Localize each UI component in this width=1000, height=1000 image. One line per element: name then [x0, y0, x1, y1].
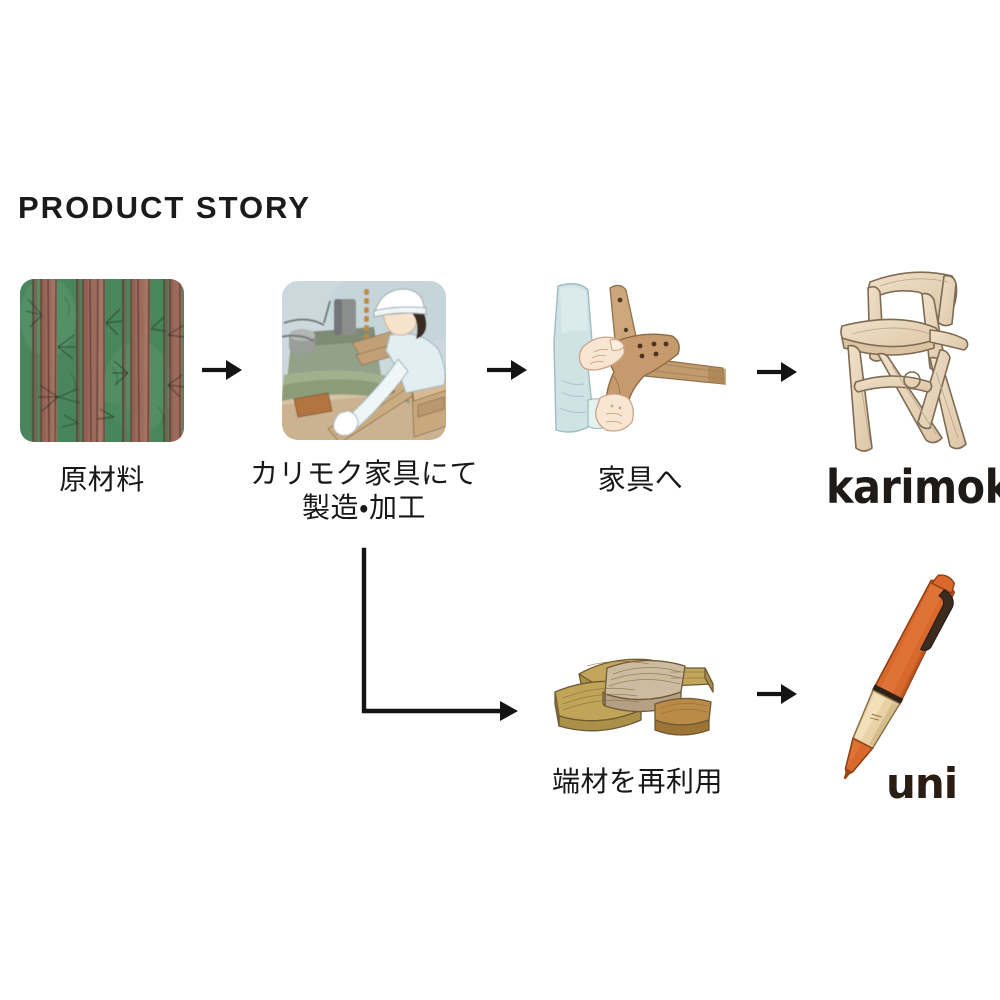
label-line-1: カリモク家具にて: [250, 458, 478, 489]
arrow-right-icon: [485, 352, 531, 388]
worker-at-woodworking-machine-icon: [278, 277, 450, 444]
arrow-offcuts-to-pen: [755, 676, 801, 717]
offcut-illustration: [545, 638, 730, 753]
arrow-right-icon: [755, 354, 801, 390]
uni-wordmark: uni: [886, 759, 957, 808]
wooden-chair-icon: [826, 262, 990, 457]
elbow-arrow-down-right-icon: [352, 546, 532, 726]
stage-manufacturing: カリモク家具にて 製造・加工: [278, 277, 450, 444]
chair-illustration: [826, 262, 990, 457]
stage-label-raw-material: 原材料: [59, 462, 145, 498]
label-line-1: 家具へ: [598, 464, 684, 495]
hands-assembling-wooden-joint-icon: [548, 272, 733, 447]
stack-of-wood-offcuts-icon: [545, 638, 730, 753]
arrow-raw-to-manufacturing: [200, 352, 246, 393]
manufacturing-illustration: [278, 277, 450, 444]
label-line-1: 端材を再利用: [552, 766, 723, 797]
arrow-right-icon: [755, 676, 801, 712]
page-title: PRODUCT STORY: [18, 190, 311, 226]
stage-karimoku-chair: karimoku: [826, 262, 990, 457]
label-line-2: 製造・加工: [250, 491, 478, 525]
stage-label-offcut-reuse: 端材を再利用: [552, 764, 723, 800]
arrow-assembly-to-chair: [755, 354, 801, 395]
arrow-manufacturing-to-assembly: [485, 352, 531, 393]
arrow-right-icon: [200, 352, 246, 388]
stage-raw-material: 原材料: [18, 277, 186, 444]
product-story-infographic: PRODUCT STORY: [0, 0, 1000, 1000]
karimoku-wordmark: karimoku: [826, 460, 1000, 514]
label-line-1: 原材料: [59, 464, 145, 495]
stage-offcut-reuse: 端材を再利用: [545, 638, 730, 753]
forest-of-trees-icon: [18, 277, 186, 444]
forest-illustration: [18, 277, 186, 444]
assembly-illustration: [548, 272, 733, 447]
stage-label-assembly: 家具へ: [598, 462, 684, 498]
stage-label-manufacturing: カリモク家具にて 製造・加工: [250, 457, 478, 525]
arrow-branch-to-offcuts: [352, 546, 532, 731]
stage-uni-pen: uni: [800, 565, 990, 795]
stage-assembly: 家具へ: [548, 272, 733, 447]
